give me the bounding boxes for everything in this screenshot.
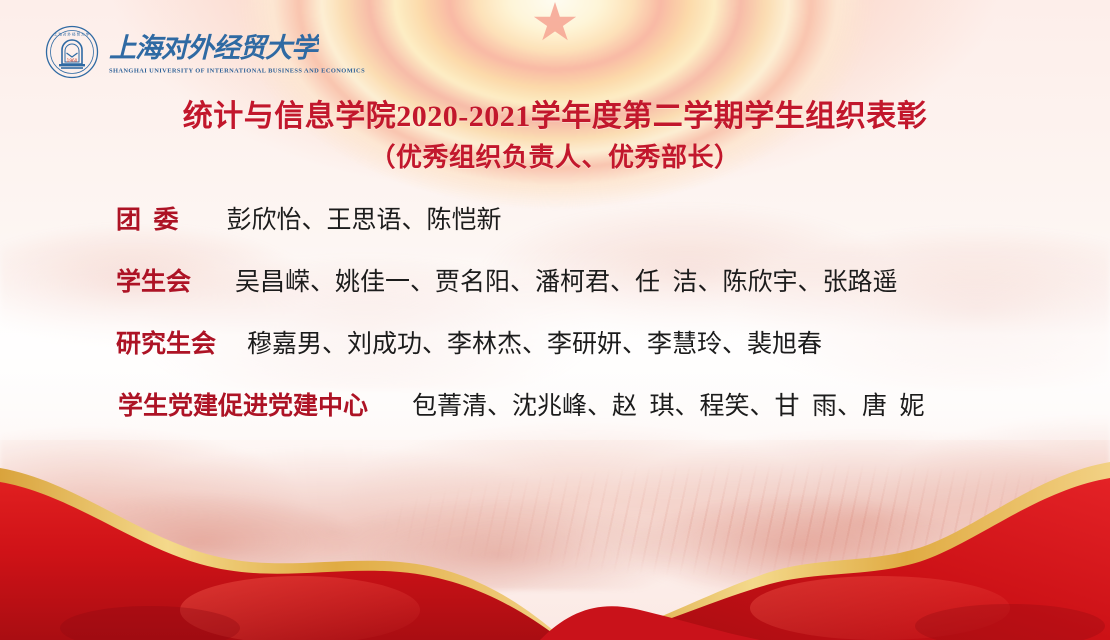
university-wordmark: 上海对外经贸大学 SHANGHAI UNIVERSITY OF INTERNAT… [109,30,365,74]
presentation-slide: 1960 上海对外经贸大学 上海对外经贸大学 SHANGHAI UNIVERSI… [0,0,1110,640]
university-logo: 1960 上海对外经贸大学 上海对外经贸大学 SHANGHAI UNIVERSI… [44,24,365,80]
svg-text:1960: 1960 [67,58,78,63]
svg-text:上海对外经贸大学: 上海对外经贸大学 [54,32,91,37]
award-row: 学生会 吴昌嵘、姚佳一、贾名阳、潘柯君、任 洁、陈欣宇、张路遥 [0,262,1110,324]
award-row-label: 团 委 [116,200,179,236]
award-row-names: 吴昌嵘、姚佳一、贾名阳、潘柯君、任 洁、陈欣宇、张路遥 [235,262,898,298]
award-list: 团 委 彭欣怡、王思语、陈恺新 学生会 吴昌嵘、姚佳一、贾名阳、潘柯君、任 洁、… [0,200,1110,448]
award-row-names: 包菁清、沈兆峰、赵 琪、程笑、甘 雨、唐 妮 [412,386,925,422]
award-row-names: 彭欣怡、王思语、陈恺新 [227,200,502,236]
award-row: 学生党建促进党建中心 包菁清、沈兆峰、赵 琪、程笑、甘 雨、唐 妮 [0,386,1110,448]
red-silk-ribbon [0,460,1110,640]
svg-text:上海对外经贸大学: 上海对外经贸大学 [109,33,319,64]
award-row-label: 学生会 [116,262,191,298]
university-name-en: SHANGHAI UNIVERSITY OF INTERNATIONAL BUS… [109,67,365,74]
slide-title: 统计与信息学院2020-2021学年度第二学期学生组织表彰 （优秀组织负责人、优… [0,98,1110,175]
award-row-label: 研究生会 [116,324,216,360]
award-row-names: 穆嘉男、刘成功、李林杰、李研妍、李慧玲、裴旭春 [247,324,822,360]
award-row-label: 学生党建促进党建中心 [118,386,368,422]
title-sub-line: （优秀组织负责人、优秀部长） [0,141,1110,174]
university-name-cn: 上海对外经贸大学 [109,30,365,64]
award-row: 团 委 彭欣怡、王思语、陈恺新 [0,200,1110,262]
university-seal-icon: 1960 上海对外经贸大学 [44,24,100,80]
award-row: 研究生会 穆嘉男、刘成功、李林杰、李研妍、李慧玲、裴旭春 [0,324,1110,386]
title-main-line: 统计与信息学院2020-2021学年度第二学期学生组织表彰 [0,98,1110,136]
